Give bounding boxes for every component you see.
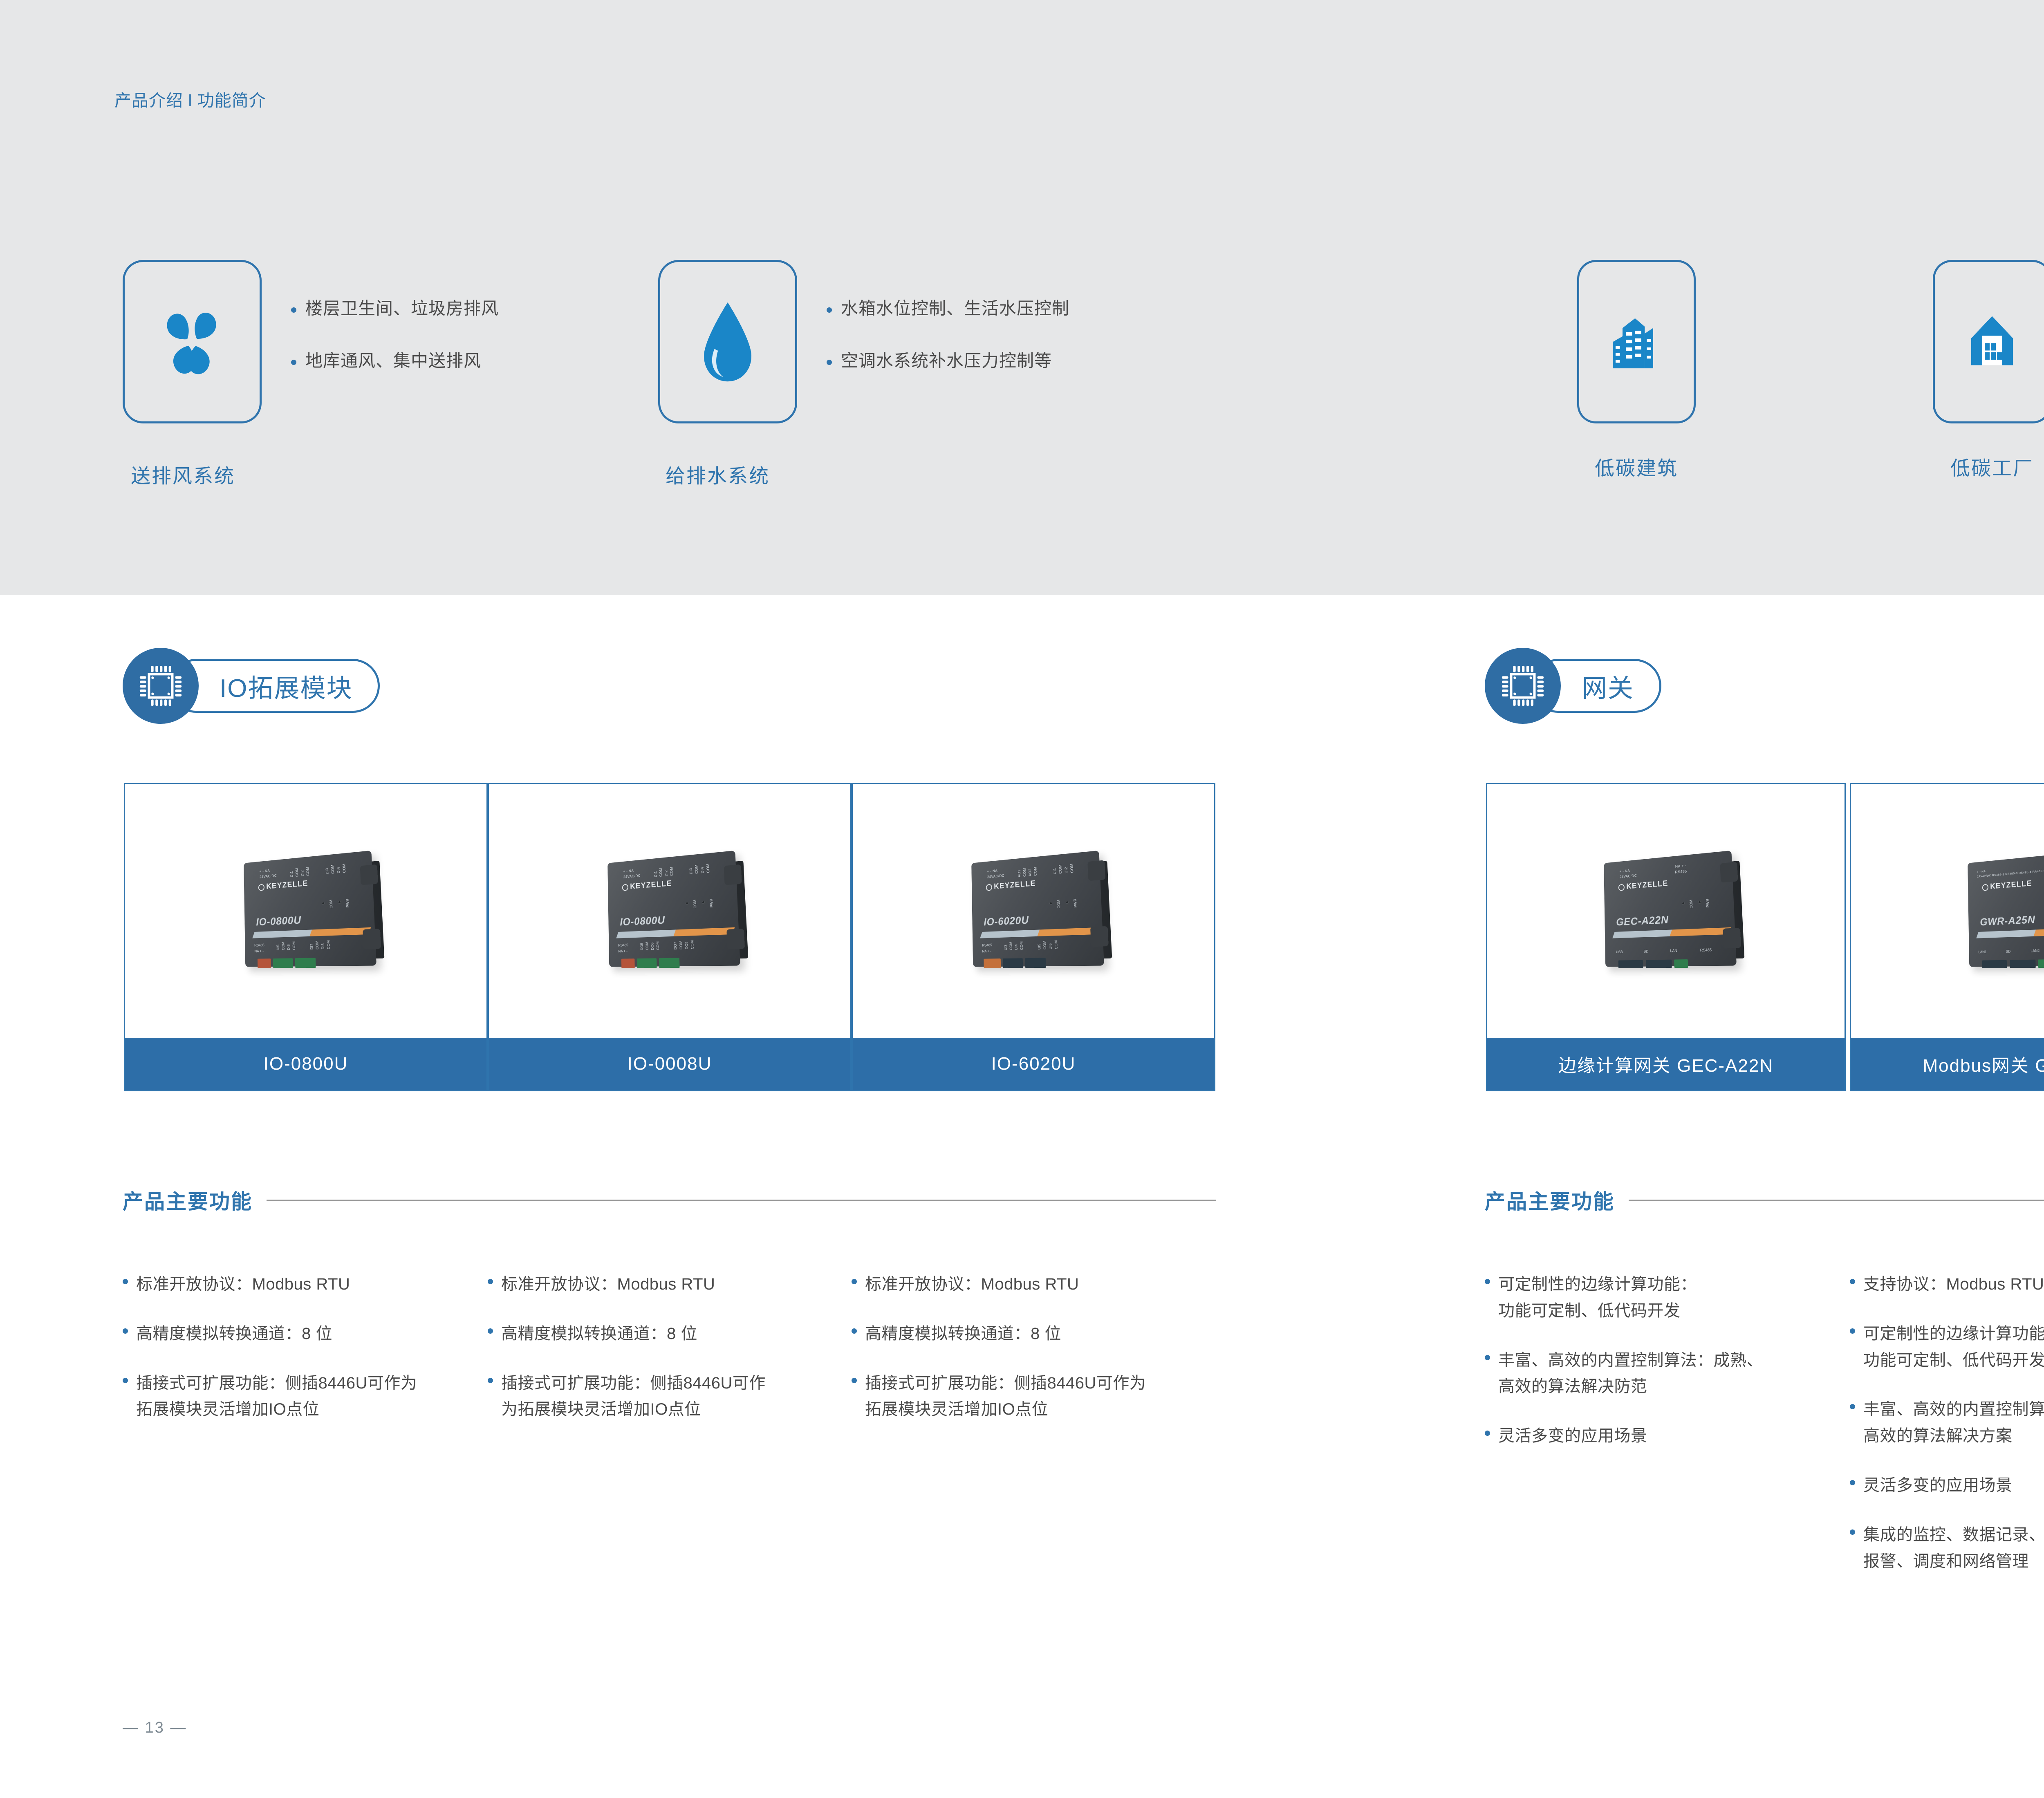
features-heading-right: 产品主要功能 [1485, 1185, 2044, 1215]
device-model: GWR-A25N [1980, 913, 2035, 928]
device-brand: KEYZELLE [986, 879, 1036, 892]
bullet-dot-icon [852, 1328, 857, 1334]
bullet-item: 空调水系统补水压力控制等 [827, 352, 1069, 369]
feature-item: 高精度模拟转换通道：8 位 [488, 1321, 843, 1347]
brand-mark-icon [1982, 884, 1988, 891]
scene-ventilation: 楼层卫生间、垃圾房排风 地库通风、集中送排风 [123, 260, 499, 423]
feature-text: 灵活多变的应用场景 [1863, 1472, 2013, 1499]
fan-icon-tile [123, 260, 262, 423]
feature-item: 插接式可扩展功能：侧插8446U可作为 拓展模块灵活增加IO点位 [852, 1370, 1211, 1423]
device-illustration: + - NA24VAC/DC DI1 COM DI2 COM DI3 COM D… [602, 856, 737, 966]
running-header-left: 产品介绍 l 功能简介 [114, 87, 266, 111]
device-stripe-orange [1037, 927, 1098, 936]
bullet-dot-icon [1850, 1529, 1855, 1535]
product-card[interactable]: + - NA24VAC/DC DI1 COM DI2 COM DI3 COM D… [124, 783, 488, 1091]
product-image: + - NA 2AVAV/DC RS485-2 RS485-3 RS485-4 … [1851, 784, 2044, 1038]
feature-item: 插接式可扩展功能：侧插8446U可作为 拓展模块灵活增加IO点位 [123, 1370, 478, 1423]
scene-ventilation-caption: 送排风系统 [131, 460, 235, 488]
device-stripe-orange [309, 927, 371, 936]
feature-text: 高精度模拟转换通道：8 位 [865, 1321, 1061, 1347]
office-building-icon [1602, 306, 1671, 378]
bullet-text: 楼层卫生间、垃圾房排风 [305, 300, 499, 317]
device-model: GEC-A22N [1616, 913, 1669, 928]
device-model: IO-0800U [256, 914, 301, 928]
product-image: + - NA24VAC/DC DI1 COM DI2 COM DI3 COM D… [489, 784, 850, 1038]
device-model: IO-0800U [620, 914, 665, 928]
office-building-icon-tile [1577, 260, 1696, 423]
device-top-terminals: + - NA24VAC/DC NA + - RS485 [1620, 860, 1720, 880]
product-card-label: IO-6020U [853, 1038, 1214, 1090]
device-stripe-orange [1670, 927, 1731, 936]
bullet-dot-icon [852, 1279, 857, 1284]
feature-text: 标准开放协议：Modbus RTU [136, 1271, 350, 1298]
device-illustration: + - NA24VAC/DC NA + - RS485 KEYZELLE GEC… [1598, 856, 1733, 966]
bullet-item: 水箱水位控制、生活水压控制 [827, 300, 1069, 317]
feature-item: 可定制性的边缘计算功能： 功能可定制、低代码开发 [1850, 1321, 2044, 1374]
feature-item: 标准开放协议：Modbus RTU [852, 1271, 1211, 1298]
device-stripe-orange [2033, 927, 2044, 936]
features-column: 可定制性的边缘计算功能： 功能可定制、低代码开发 丰富、高效的内置控制算法：成熟… [1485, 1271, 1840, 1472]
bullet-dot-icon [1850, 1480, 1855, 1485]
product-card[interactable]: + - NA 2AVAV/DC RS485-2 RS485-3 RS485-4 … [1850, 783, 2044, 1091]
heading-rule [1629, 1200, 2044, 1201]
device-top-terminals: + - NA24VAC/DC DI1 COM DI2 COM DI3 COM D… [623, 860, 724, 880]
factory-icon-tile [1933, 260, 2044, 423]
feature-text: 高精度模拟转换通道：8 位 [136, 1321, 332, 1347]
feature-item: 可定制性的边缘计算功能： 功能可定制、低代码开发 [1485, 1271, 1840, 1324]
feature-text: 标准开放协议：Modbus RTU [865, 1271, 1079, 1298]
feature-item: 灵活多变的应用场景 [1850, 1472, 2044, 1499]
device-bottom-terminals: RS485NA + - DI5 COM DI6 COM DI7 COM DI8 … [254, 940, 350, 954]
feature-text: 灵活多变的应用场景 [1498, 1423, 1647, 1449]
tile-low-carbon-building: 低碳建筑 [1577, 260, 1696, 481]
heading-rule [267, 1200, 1216, 1201]
section-badge-io-modules: IO拓展模块 [123, 648, 380, 724]
scene-water-caption: 给排水系统 [666, 460, 770, 488]
section-badge-gateway: 网关 [1485, 648, 1661, 724]
bullet-dot-icon [488, 1279, 493, 1284]
bullet-dot-icon [827, 307, 832, 313]
product-card[interactable]: + - NA24VAC/DC AO1 COM AO2 COM UI1 COM U… [852, 783, 1215, 1091]
device-stripe-gray [1612, 929, 1678, 938]
feature-text: 支持协议：Modbus RTU [1863, 1271, 2044, 1298]
tile-label: 低碳建筑 [1595, 452, 1678, 481]
feature-item: 支持协议：Modbus RTU [1850, 1271, 2044, 1298]
feature-text: 可定制性的边缘计算功能： 功能可定制、低代码开发 [1498, 1271, 1697, 1324]
chip-icon-circle [123, 648, 199, 724]
bullet-text: 水箱水位控制、生活水压控制 [841, 300, 1069, 317]
features-title: 产品主要功能 [1485, 1185, 1615, 1215]
feature-item: 集成的监控、数据记录、能耗计量、 报警、调度和网络管理 [1850, 1522, 2044, 1575]
device-brand: KEYZELLE [258, 879, 309, 892]
scene-ventilation-bullets: 楼层卫生间、垃圾房排风 地库通风、集中送排风 [291, 260, 499, 369]
device-top-terminals: + - NA 2AVAV/DC RS485-2 RS485-3 RS485-4 … [1977, 860, 2044, 879]
water-drop-icon [689, 298, 766, 386]
bullet-text: 地库通风、集中送排风 [305, 352, 481, 369]
feature-text: 丰富、高效的内置控制算法：成熟、 高效的算法解决防范 [1498, 1347, 1763, 1400]
brand-mark-icon [986, 884, 992, 891]
feature-text: 插接式可扩展功能：侧插8446U可作为 拓展模块灵活增加IO点位 [136, 1370, 417, 1423]
feature-item: 丰富、高效的内置控制算法：成熟、 高效的算法解决防范 [1485, 1347, 1840, 1400]
brand-mark-icon [1618, 884, 1625, 891]
device-bottom-terminals: RS485NA + - DO5 COM DO6 COM DO7 COM DO8 … [618, 940, 714, 954]
bullet-dot-icon [488, 1328, 493, 1334]
device-brand: KEYZELLE [1982, 879, 2033, 892]
bullet-dot-icon [123, 1279, 128, 1284]
chip-icon [137, 662, 185, 710]
device-brand: KEYZELLE [1618, 879, 1669, 892]
tile-low-carbon-factory: 低碳工厂 [1933, 260, 2044, 481]
feature-item: 高精度模拟转换通道：8 位 [852, 1321, 1211, 1347]
fan-icon [149, 299, 235, 385]
device-stripe-gray [252, 929, 318, 938]
bullet-dot-icon [827, 360, 832, 365]
bullet-dot-icon [488, 1378, 493, 1383]
brand-mark-icon [258, 884, 264, 891]
product-card[interactable]: + - NA24VAC/DC NA + - RS485 KEYZELLE GEC… [1486, 783, 1846, 1091]
device-leds: COM PWR [1049, 898, 1078, 909]
feature-text: 标准开放协议：Modbus RTU [501, 1271, 715, 1298]
feature-item: 插接式可扩展功能：侧插8446U可作 为拓展模块灵活增加IO点位 [488, 1370, 843, 1423]
device-illustration: + - NA 2AVAV/DC RS485-2 RS485-3 RS485-4 … [1962, 856, 2044, 966]
bullet-item: 楼层卫生间、垃圾房排风 [291, 300, 499, 317]
device-stripe-orange [673, 927, 735, 936]
feature-item: 灵活多变的应用场景 [1485, 1423, 1840, 1449]
feature-text: 可定制性的边缘计算功能： 功能可定制、低代码开发 [1863, 1321, 2044, 1374]
feature-text: 丰富、高效的内置控制算法：成熟、 高效的算法解决方案 [1863, 1396, 2044, 1449]
bullet-item: 地库通风、集中送排风 [291, 352, 499, 369]
factory-icon [1961, 306, 2023, 378]
device-stripe-gray [980, 929, 1046, 938]
feature-text: 插接式可扩展功能：侧插8446U可作 为拓展模块灵活增加IO点位 [501, 1370, 766, 1423]
device-illustration: + - NA24VAC/DC DI1 COM DI2 COM DI3 COM D… [238, 856, 373, 966]
scene-water-supply: 水箱水位控制、生活水压控制 空调水系统补水压力控制等 [658, 260, 1069, 423]
bullet-dot-icon [1485, 1279, 1490, 1284]
bullet-dot-icon [1485, 1355, 1490, 1360]
features-column: 标准开放协议：Modbus RTU 高精度模拟转换通道：8 位 插接式可扩展功能… [852, 1271, 1211, 1446]
feature-item: 丰富、高效的内置控制算法：成熟、 高效的算法解决方案 [1850, 1396, 2044, 1449]
bullet-dot-icon [1850, 1328, 1855, 1334]
device-brand: KEYZELLE [622, 879, 672, 892]
device-top-terminals: + - NA24VAC/DC DI1 COM DI2 COM DI3 COM D… [260, 860, 360, 880]
section-badge-pill: IO拓展模块 [169, 659, 380, 713]
device-leds: COM PWR [686, 898, 714, 909]
product-card-label: 边缘计算网关 GEC-A22N [1487, 1038, 1845, 1090]
feature-item: 标准开放协议：Modbus RTU [123, 1271, 478, 1298]
brand-mark-icon [622, 884, 628, 891]
feature-text: 集成的监控、数据记录、能耗计量、 报警、调度和网络管理 [1863, 1522, 2044, 1575]
product-card-label: IO-0008U [489, 1038, 850, 1090]
bullet-text: 空调水系统补水压力控制等 [841, 352, 1052, 369]
product-image: + - NA24VAC/DC AO1 COM AO2 COM UI1 COM U… [853, 784, 1214, 1038]
features-column: 标准开放协议：Modbus RTU 高精度模拟转换通道：8 位 插接式可扩展功能… [488, 1271, 843, 1446]
feature-item: 高精度模拟转换通道：8 位 [123, 1321, 478, 1347]
features-column: 支持协议：Modbus RTU 可定制性的边缘计算功能： 功能可定制、低代码开发… [1850, 1271, 2044, 1597]
bullet-dot-icon [852, 1378, 857, 1383]
section-badge-label: IO拓展模块 [220, 667, 352, 704]
product-card-label: Modbus网关 GWR-A25N [1851, 1038, 2044, 1090]
bullet-dot-icon [1485, 1431, 1490, 1436]
feature-text: 插接式可扩展功能：侧插8446U可作为 拓展模块灵活增加IO点位 [865, 1370, 1146, 1423]
bullet-dot-icon [123, 1378, 128, 1383]
device-bottom-terminals: LAN1 SD LAN2 RS485-1 [1978, 947, 2044, 954]
section-badge-label: 网关 [1582, 667, 1634, 704]
feature-text: 高精度模拟转换通道：8 位 [501, 1321, 697, 1347]
device-bottom-terminals: RS485NA + - UI3 COM UI4 COM UI5 COM UI6 … [982, 940, 1078, 954]
device-top-terminals: + - NA24VAC/DC AO1 COM AO2 COM UI1 COM U… [987, 860, 1087, 880]
features-title: 产品主要功能 [123, 1185, 253, 1215]
chip-icon [1499, 662, 1547, 710]
product-image: + - NA24VAC/DC DI1 COM DI2 COM DI3 COM D… [125, 784, 486, 1038]
device-bottom-terminals: USB SD LAN RS485 [1616, 947, 1712, 954]
bullet-dot-icon [291, 360, 296, 365]
bullet-dot-icon [1850, 1404, 1855, 1409]
features-heading-left: 产品主要功能 [123, 1185, 1216, 1215]
bullet-dot-icon [1850, 1279, 1855, 1284]
tile-label: 低碳工厂 [1950, 452, 2034, 481]
device-leds: COM PWR [1682, 898, 1710, 909]
water-drop-icon-tile [658, 260, 797, 423]
device-model: IO-6020U [984, 914, 1029, 928]
features-column: 标准开放协议：Modbus RTU 高精度模拟转换通道：8 位 插接式可扩展功能… [123, 1271, 478, 1446]
page-number-left: — 13 — [123, 1719, 187, 1737]
product-card-label: IO-0800U [125, 1038, 486, 1090]
bullet-dot-icon [123, 1328, 128, 1334]
scene-water-bullets: 水箱水位控制、生活水压控制 空调水系统补水压力控制等 [827, 260, 1069, 369]
chip-icon-circle [1485, 648, 1561, 724]
device-leds: COM PWR [322, 898, 350, 909]
device-stripe-gray [1976, 929, 2042, 938]
device-illustration: + - NA24VAC/DC AO1 COM AO2 COM UI1 COM U… [966, 856, 1101, 966]
feature-item: 标准开放协议：Modbus RTU [488, 1271, 843, 1298]
product-image: + - NA24VAC/DC NA + - RS485 KEYZELLE GEC… [1487, 784, 1845, 1038]
device-stripe-gray [616, 929, 682, 938]
bullet-dot-icon [291, 307, 296, 313]
product-card[interactable]: + - NA24VAC/DC DI1 COM DI2 COM DI3 COM D… [488, 783, 852, 1091]
